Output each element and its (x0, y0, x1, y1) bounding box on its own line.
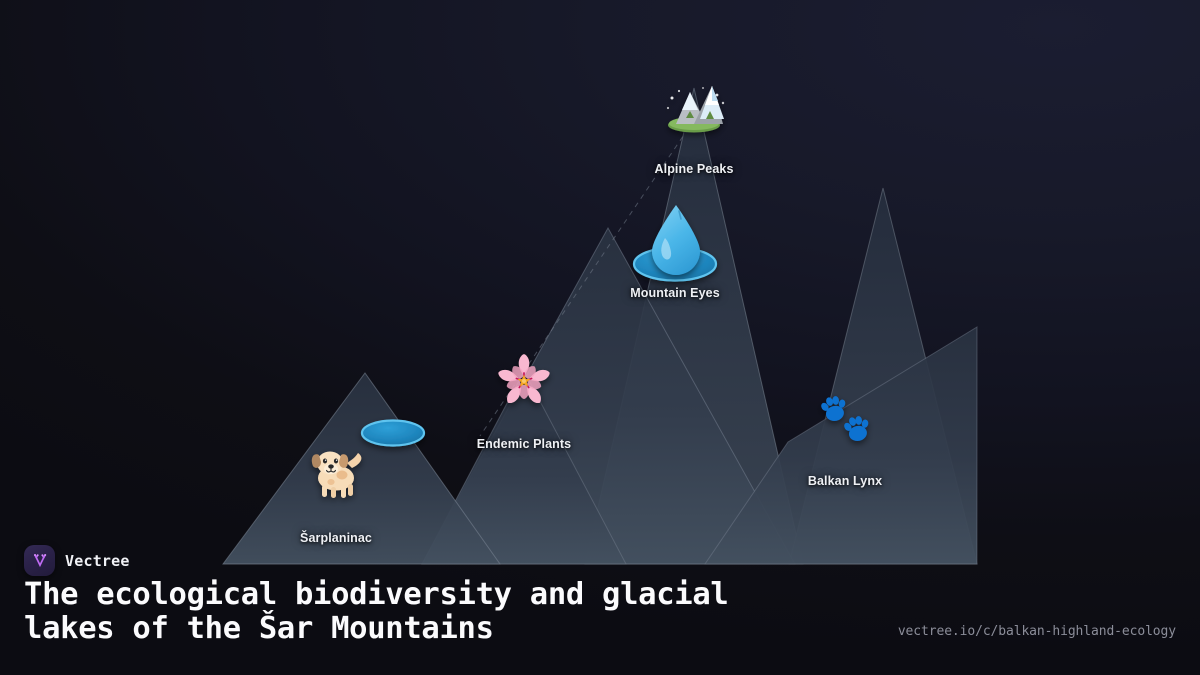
node-alpine-peaks[interactable]: Alpine Peaks (654, 155, 733, 176)
node-label-mountain-eyes: Mountain Eyes (630, 286, 720, 300)
node-label-endemic-plants: Endemic Plants (477, 437, 572, 451)
node-label-sarplaninac: Šarplaninac (300, 531, 372, 545)
node-label-balkan-lynx: Balkan Lynx (808, 474, 882, 488)
node-endemic-plants[interactable]: Endemic Plants (477, 430, 572, 451)
node-mountain-eyes[interactable]: Mountain Eyes (630, 279, 720, 300)
vectree-tree-logo-icon (24, 545, 55, 576)
node-label-alpine-peaks: Alpine Peaks (654, 162, 733, 176)
page-title: The ecological biodiversity and glacial … (24, 578, 894, 646)
mountain-scene (0, 0, 1200, 675)
page-title-line-2: lakes of the Šar Mountains (24, 612, 894, 646)
source-url: vectree.io/c/balkan-highland-ecology (898, 624, 1176, 639)
glacial-lake-small (362, 421, 424, 446)
brand-name: Vectree (65, 552, 130, 570)
node-sarplaninac[interactable]: Šarplaninac (300, 524, 372, 545)
page-title-line-1: The ecological biodiversity and glacial (24, 578, 894, 612)
infographic-canvas: Alpine Peaks Mountain Eyes Endemic Plant… (0, 0, 1200, 675)
node-balkan-lynx[interactable]: Balkan Lynx (808, 467, 882, 488)
brand-row[interactable]: Vectree (24, 545, 130, 576)
